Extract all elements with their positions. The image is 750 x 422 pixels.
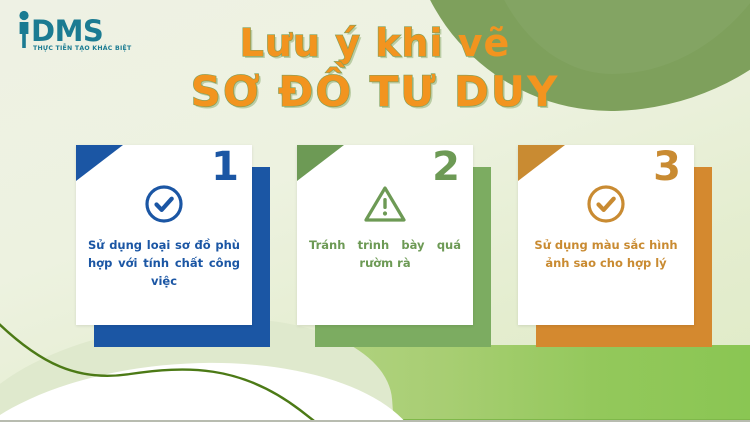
card-number: 2 bbox=[432, 147, 460, 187]
folded-corner-icon bbox=[297, 145, 344, 181]
title-line-1: Lưu ý khi vẽ bbox=[0, 24, 750, 62]
tip-card-1[interactable]: 1 Sử dụng loại sơ đồ phù hợp với tính ch… bbox=[76, 145, 252, 325]
card-number: 3 bbox=[653, 147, 681, 187]
infographic-canvas: DMS THỰC TIỄN TẠO KHÁC BIỆT Lưu ý khi vẽ… bbox=[0, 0, 750, 422]
card-text: Sử dụng màu sắc hình ảnh sao cho hợp lý bbox=[530, 237, 682, 273]
card-face: 3 Sử dụng màu sắc hình ảnh sao cho hợp l… bbox=[518, 145, 694, 325]
warning-triangle-icon bbox=[297, 183, 473, 227]
tip-card-2[interactable]: 2 Tránh trình bày quá rườm rà bbox=[297, 145, 473, 325]
folded-corner-icon bbox=[76, 145, 123, 181]
title-line-2: SƠ ĐỒ TƯ DUY bbox=[0, 71, 750, 113]
tip-card-3[interactable]: 3 Sử dụng màu sắc hình ảnh sao cho hợp l… bbox=[518, 145, 694, 325]
folded-corner-icon bbox=[518, 145, 565, 181]
check-circle-icon bbox=[518, 183, 694, 227]
card-number: 1 bbox=[211, 147, 239, 187]
card-face: 2 Tránh trình bày quá rườm rà bbox=[297, 145, 473, 325]
card-text: Tránh trình bày quá rườm rà bbox=[309, 237, 461, 273]
check-circle-icon bbox=[76, 183, 252, 227]
card-text: Sử dụng loại sơ đồ phù hợp với tính chất… bbox=[88, 237, 240, 290]
page-title: Lưu ý khi vẽ SƠ ĐỒ TƯ DUY bbox=[0, 24, 750, 113]
card-face: 1 Sử dụng loại sơ đồ phù hợp với tính ch… bbox=[76, 145, 252, 325]
